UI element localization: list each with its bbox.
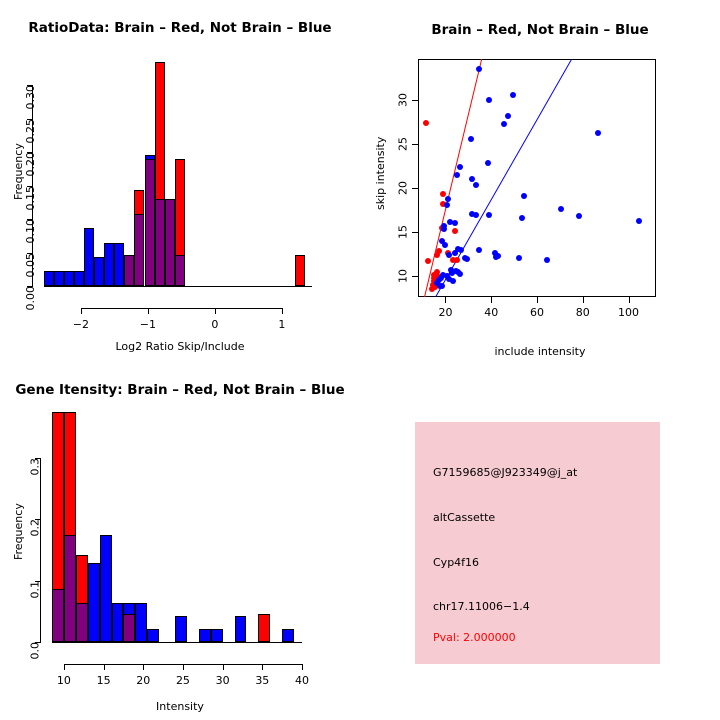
histogram-bar bbox=[64, 271, 74, 286]
histogram-bar bbox=[84, 228, 94, 286]
histogram-bar bbox=[100, 535, 112, 642]
annotation-probe-id: G7159685@J923349@j_at bbox=[433, 466, 577, 479]
histogram-bar bbox=[211, 629, 223, 642]
histogram-bar-overlap bbox=[134, 214, 144, 286]
scatter-point bbox=[595, 130, 601, 136]
x-tick-label: 40 bbox=[295, 674, 309, 687]
scatter-data-layer bbox=[418, 59, 656, 297]
scatter-point bbox=[486, 212, 492, 218]
y-tick-label: 10 bbox=[397, 269, 410, 283]
scatter-point bbox=[510, 92, 516, 98]
histogram-bar bbox=[258, 614, 270, 642]
scatter-point bbox=[476, 247, 482, 253]
histogram-bar-overlap bbox=[155, 199, 165, 286]
histogram-bar bbox=[282, 629, 294, 642]
histogram-bar bbox=[147, 629, 159, 642]
x-tick-label: 1 bbox=[278, 318, 285, 331]
scatter-plot-area: 101520253020406080100 bbox=[360, 0, 720, 360]
gene-histogram-plot-area: 0.00.10.20.310152025303540 bbox=[0, 360, 360, 720]
histogram-bar bbox=[199, 629, 211, 642]
scatter-point bbox=[516, 255, 522, 261]
y-tick-label: 15 bbox=[397, 225, 410, 239]
scatter-point bbox=[446, 252, 452, 258]
histogram-bar bbox=[235, 616, 247, 642]
histogram-bar bbox=[112, 603, 124, 642]
scatter-point bbox=[425, 258, 431, 264]
x-tick bbox=[302, 664, 303, 670]
annotation-pval: Pval: 2.000000 bbox=[433, 631, 516, 644]
y-tick bbox=[412, 188, 418, 189]
y-tick-label: 0.30 bbox=[24, 85, 37, 110]
x-tick-label: −1 bbox=[140, 318, 156, 331]
scatter-point bbox=[485, 160, 491, 166]
y-tick-label: 0.15 bbox=[24, 186, 37, 211]
histogram-bar bbox=[74, 271, 84, 286]
annotation-gene-symbol: Cyp4f16 bbox=[433, 556, 479, 569]
scatter-point bbox=[449, 270, 455, 276]
x-tick bbox=[81, 308, 82, 314]
scatter-point bbox=[473, 212, 479, 218]
x-tick bbox=[143, 664, 144, 670]
scatter-point bbox=[576, 213, 582, 219]
histogram-bar-overlap bbox=[123, 614, 135, 642]
histogram-bar bbox=[54, 271, 64, 286]
histogram-bar-overlap bbox=[175, 255, 185, 286]
scatter-point bbox=[473, 182, 479, 188]
y-tick-label: 0.00 bbox=[24, 286, 37, 311]
scatter-point bbox=[493, 254, 499, 260]
histogram-bar bbox=[94, 257, 104, 286]
scatter-point bbox=[457, 164, 463, 170]
histogram-bar-overlap bbox=[124, 255, 134, 286]
histogram-bar bbox=[44, 271, 54, 286]
scatter-point bbox=[505, 113, 511, 119]
y-tick-label: 0.20 bbox=[24, 152, 37, 177]
y-tick bbox=[412, 276, 418, 277]
y-tick-label: 0.10 bbox=[24, 219, 37, 244]
y-tick-label: 0.25 bbox=[24, 119, 37, 144]
x-tick bbox=[629, 297, 630, 303]
annotation-box bbox=[415, 422, 660, 664]
x-tick bbox=[537, 297, 538, 303]
scatter-point bbox=[436, 248, 442, 254]
x-tick-label: 25 bbox=[176, 674, 190, 687]
annotation-locus: chr17.11006−1.4 bbox=[433, 600, 530, 613]
panel-gene-histogram: Gene Itensity: Brain – Red, Not Brain – … bbox=[0, 360, 360, 720]
y-tick-label: 0.3 bbox=[28, 458, 41, 476]
x-tick bbox=[583, 297, 584, 303]
x-tick bbox=[148, 308, 149, 314]
y-tick bbox=[412, 232, 418, 233]
x-tick bbox=[445, 297, 446, 303]
panel-scatter: Brain – Red, Not Brain – Blue skip inten… bbox=[360, 0, 720, 360]
x-tick bbox=[64, 664, 65, 670]
scatter-point bbox=[501, 121, 507, 127]
x-tick-label: 80 bbox=[576, 306, 590, 319]
x-tick bbox=[223, 664, 224, 670]
x-tick-label: 40 bbox=[484, 306, 498, 319]
panel-ratio-histogram: RatioData: Brain – Red, Not Brain – Blue… bbox=[0, 0, 360, 360]
scatter-point bbox=[442, 242, 448, 248]
scatter-point bbox=[423, 120, 429, 126]
histogram-bar bbox=[88, 563, 100, 642]
x-tick-label: 60 bbox=[530, 306, 544, 319]
x-tick bbox=[491, 297, 492, 303]
scatter-point bbox=[452, 228, 458, 234]
scatter-point bbox=[636, 218, 642, 224]
scatter-point bbox=[486, 97, 492, 103]
scatter-point bbox=[521, 193, 527, 199]
y-tick bbox=[412, 144, 418, 145]
scatter-point bbox=[468, 136, 474, 142]
scatter-point bbox=[519, 215, 525, 221]
x-tick-label: 100 bbox=[618, 306, 639, 319]
histogram-bar bbox=[135, 603, 147, 642]
histogram-bar-overlap bbox=[76, 603, 88, 642]
x-tick-label: 30 bbox=[216, 674, 230, 687]
scatter-point bbox=[454, 172, 460, 178]
y-tick-label: 20 bbox=[397, 181, 410, 195]
histogram-bar bbox=[295, 255, 305, 286]
scatter-point bbox=[458, 247, 464, 253]
panel-annotation: G7159685@J923349@j_at altCassette Cyp4f1… bbox=[360, 360, 720, 720]
x-tick-label: 20 bbox=[136, 674, 150, 687]
x-tick-label: −2 bbox=[73, 318, 89, 331]
scatter-point bbox=[450, 278, 456, 284]
ratio-plot-baseline bbox=[44, 286, 312, 287]
x-tick bbox=[183, 664, 184, 670]
y-tick-label: 0.2 bbox=[28, 519, 41, 537]
scatter-point bbox=[476, 66, 482, 72]
x-tick-label: 0 bbox=[211, 318, 218, 331]
x-tick-label: 10 bbox=[57, 674, 71, 687]
scatter-point bbox=[464, 256, 470, 262]
scatter-point bbox=[454, 257, 460, 263]
scatter-point bbox=[429, 286, 435, 292]
gene-plot-yaxis bbox=[40, 458, 41, 642]
x-tick-label: 20 bbox=[438, 306, 452, 319]
scatter-point bbox=[441, 226, 447, 232]
histogram-bar-overlap bbox=[145, 159, 155, 286]
histogram-bar-overlap bbox=[52, 589, 64, 642]
histogram-bar-overlap bbox=[64, 535, 76, 642]
scatter-point bbox=[444, 202, 450, 208]
y-tick bbox=[412, 100, 418, 101]
histogram-bar bbox=[104, 243, 114, 286]
x-tick bbox=[104, 664, 105, 670]
x-tick bbox=[282, 308, 283, 314]
y-tick-label: 30 bbox=[397, 93, 410, 107]
x-tick-label: 15 bbox=[97, 674, 111, 687]
scatter-point bbox=[544, 257, 550, 263]
scatter-point bbox=[558, 206, 564, 212]
figure-canvas: RatioData: Brain – Red, Not Brain – Blue… bbox=[0, 0, 720, 720]
y-tick-label: 25 bbox=[397, 137, 410, 151]
ratio-plot-xaxis bbox=[81, 308, 282, 309]
y-tick-label: 0.0 bbox=[28, 642, 41, 660]
scatter-point bbox=[469, 176, 475, 182]
x-tick bbox=[262, 664, 263, 670]
ratio-histogram-plot-area: 0.000.050.100.150.200.250.30−2−101 bbox=[0, 0, 360, 360]
gene-plot-baseline bbox=[52, 642, 302, 643]
scatter-point bbox=[457, 271, 463, 277]
annotation-event-type: altCassette bbox=[433, 511, 495, 524]
y-tick-label: 0.05 bbox=[24, 253, 37, 278]
scatter-point bbox=[452, 220, 458, 226]
scatter-point bbox=[445, 196, 451, 202]
histogram-bar-overlap bbox=[165, 199, 175, 286]
histogram-bar bbox=[114, 243, 124, 286]
x-tick bbox=[215, 308, 216, 314]
x-tick-label: 35 bbox=[255, 674, 269, 687]
histogram-bar bbox=[175, 616, 187, 642]
y-tick-label: 0.1 bbox=[28, 581, 41, 599]
scatter-point bbox=[452, 250, 458, 256]
